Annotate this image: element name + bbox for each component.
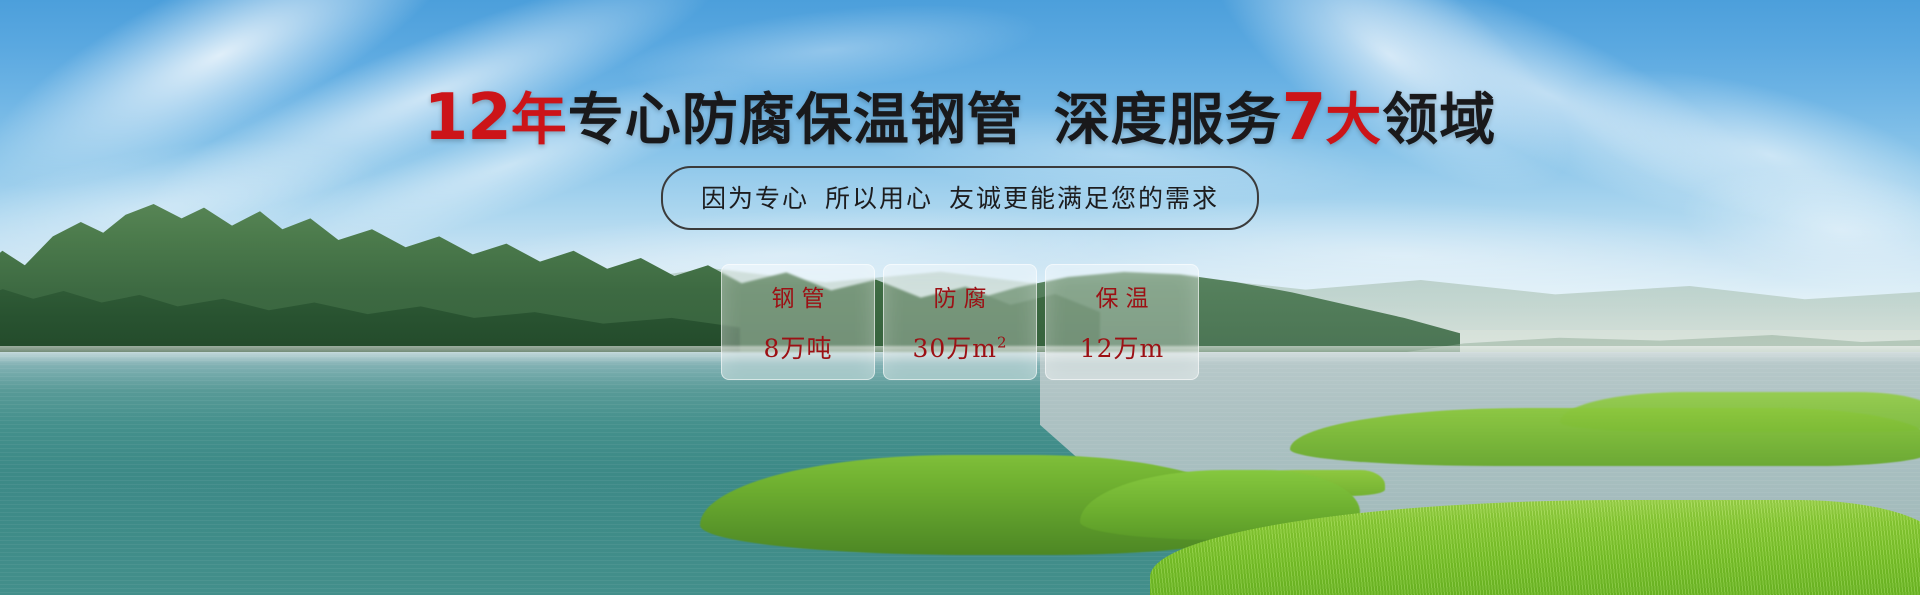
cloud-wisp bbox=[1550, 35, 1920, 276]
cloud-wisp bbox=[1673, 148, 1920, 311]
headline-tail-text: 领域 bbox=[1382, 88, 1496, 153]
headline-second-unit: 大 bbox=[1325, 88, 1382, 153]
headline-lead-unit: 年 bbox=[511, 88, 568, 153]
stat-card-title: 保温 bbox=[1089, 279, 1156, 313]
headline-second-number: 7 bbox=[1282, 81, 1326, 155]
stat-card-value-text: 30万m bbox=[912, 334, 997, 363]
headline-lead-number: 12 bbox=[424, 81, 511, 155]
subtitle-part-2: 所以用心 bbox=[825, 184, 933, 213]
stat-card-value: 8万吨 bbox=[764, 329, 833, 365]
stat-card-title: 钢管 bbox=[765, 279, 832, 313]
stat-card-value: 30万m2 bbox=[912, 329, 1007, 365]
stat-card-insulation[interactable]: 保温 12万m bbox=[1045, 264, 1199, 380]
cloud-wisp bbox=[250, 38, 771, 292]
stat-card-steel-pipe[interactable]: 钢管 8万吨 bbox=[721, 264, 875, 380]
stat-card-anticorrosion[interactable]: 防腐 30万m2 bbox=[883, 264, 1037, 380]
stat-card-value-text: 12万m bbox=[1080, 334, 1165, 363]
marsh-bank bbox=[1290, 408, 1920, 466]
hero-banner: 12年专心防腐保温钢管深度服务7大领域 因为专心所以用心友诚更能满足您的需求 钢… bbox=[0, 0, 1920, 595]
stat-card-group: 钢管 8万吨 防腐 30万m2 保温 12万m bbox=[721, 264, 1199, 380]
stat-card-value-text: 8万吨 bbox=[764, 334, 833, 363]
subtitle-part-3: 友诚更能满足您的需求 bbox=[949, 184, 1219, 213]
headline-second-text: 深度服务 bbox=[1054, 88, 1282, 153]
banner-subtitle-pill: 因为专心所以用心友诚更能满足您的需求 bbox=[661, 166, 1259, 230]
banner-headline: 12年专心防腐保温钢管深度服务7大领域 bbox=[0, 86, 1920, 150]
stat-card-value: 12万m bbox=[1080, 329, 1165, 365]
stat-card-value-exponent: 2 bbox=[997, 334, 1008, 352]
subtitle-part-1: 因为专心 bbox=[701, 184, 809, 213]
stat-card-title: 防腐 bbox=[927, 279, 994, 313]
headline-main-text: 专心防腐保温钢管 bbox=[568, 88, 1024, 153]
